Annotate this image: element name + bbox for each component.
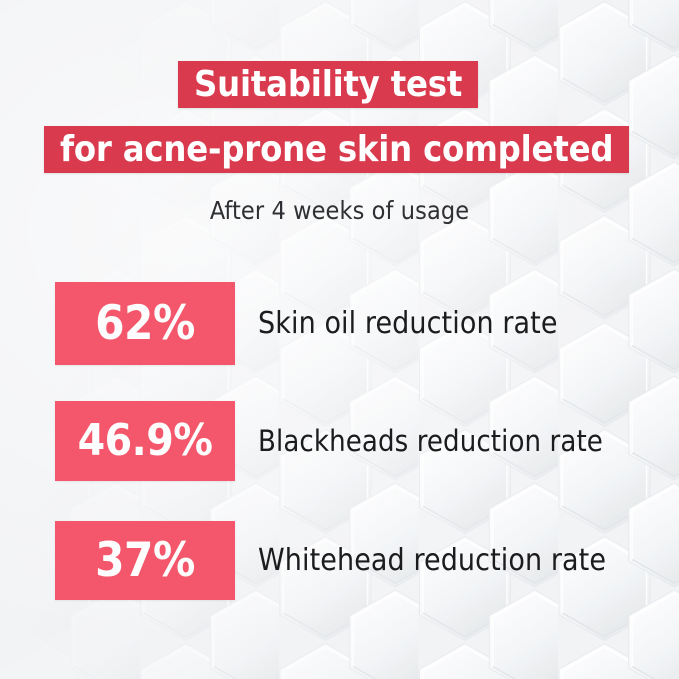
stat-value-box: 37%	[55, 521, 235, 600]
stat-value-box: 46.9%	[55, 401, 235, 481]
headline-banner-line-1: Suitability test	[178, 61, 478, 108]
stat-label: Skin oil reduction rate	[258, 282, 558, 365]
stat-value-box: 62%	[55, 282, 235, 365]
stat-label: Whitehead reduction rate	[258, 521, 606, 600]
stat-value: 37%	[95, 537, 195, 584]
poster-content: Suitability test for acne-prone skin com…	[0, 0, 679, 679]
subtitle: After 4 weeks of usage	[0, 196, 679, 225]
stat-value: 46.9%	[78, 419, 213, 463]
headline-banner-line-2: for acne-prone skin completed	[44, 126, 629, 173]
stat-value: 62%	[95, 300, 195, 347]
stat-row: 62% Skin oil reduction rate	[0, 282, 679, 366]
stat-row: 46.9% Blackheads reduction rate	[0, 401, 679, 485]
poster: Suitability test for acne-prone skin com…	[0, 0, 679, 679]
stat-row: 37% Whitehead reduction rate	[0, 521, 679, 605]
stat-label: Blackheads reduction rate	[258, 401, 603, 481]
